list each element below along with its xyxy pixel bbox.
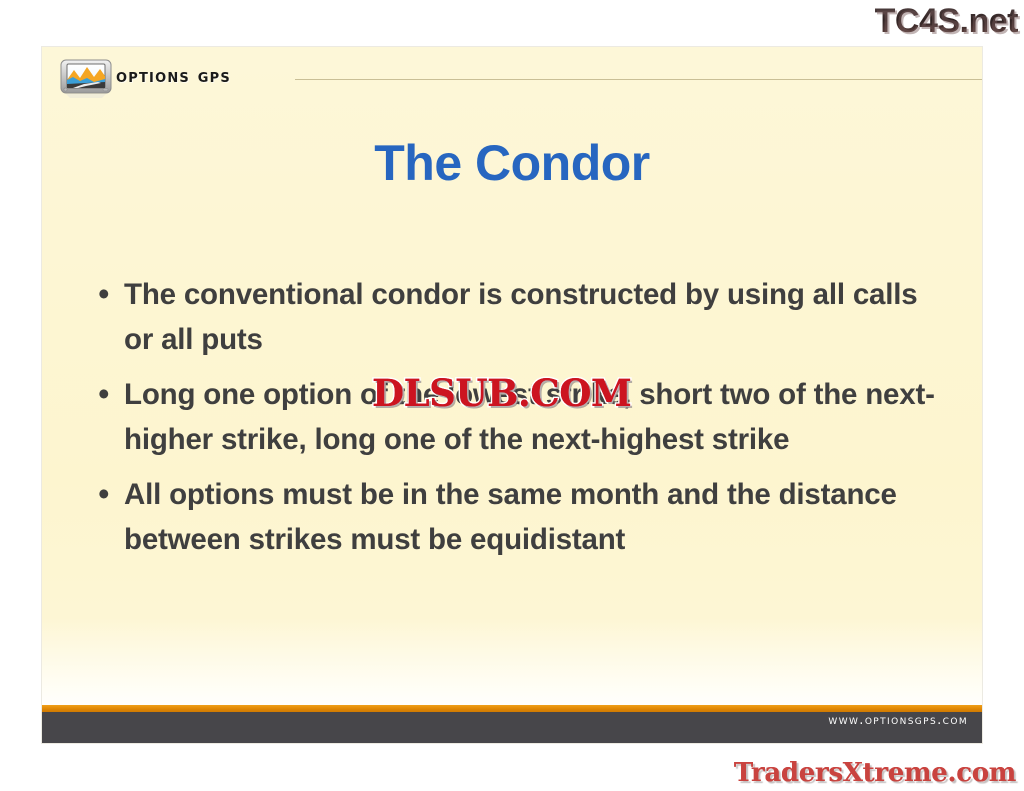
list-item-text: All options must be in the same month an… [124,472,950,562]
bullet-marker-icon: • [90,472,124,516]
slide-footer: www.OptionsGPS.com [42,705,982,743]
footer-accent-bar [42,705,982,712]
bullet-marker-icon: • [90,372,124,416]
brand-name-options-gps: Options GPS [116,65,231,87]
gps-device-icon [60,58,112,98]
slide-header: Options GPS [42,47,982,105]
header-divider [295,79,982,80]
bullet-list: • The conventional condor is constructed… [90,272,950,572]
site-brand-tc4s: TC4S.net [875,2,1018,41]
footer-website-url: www.OptionsGPS.com [828,713,968,728]
bullet-marker-icon: • [90,272,124,316]
watermark-tradersxtreme: TradersXtreme.com [734,758,1016,788]
page-title: The Condor [42,134,982,192]
watermark-dlsub: DLSUB.COM [372,371,631,415]
list-item-text: The conventional condor is constructed b… [124,272,950,362]
list-item: • The conventional condor is constructed… [90,272,950,362]
list-item: • All options must be in the same month … [90,472,950,562]
